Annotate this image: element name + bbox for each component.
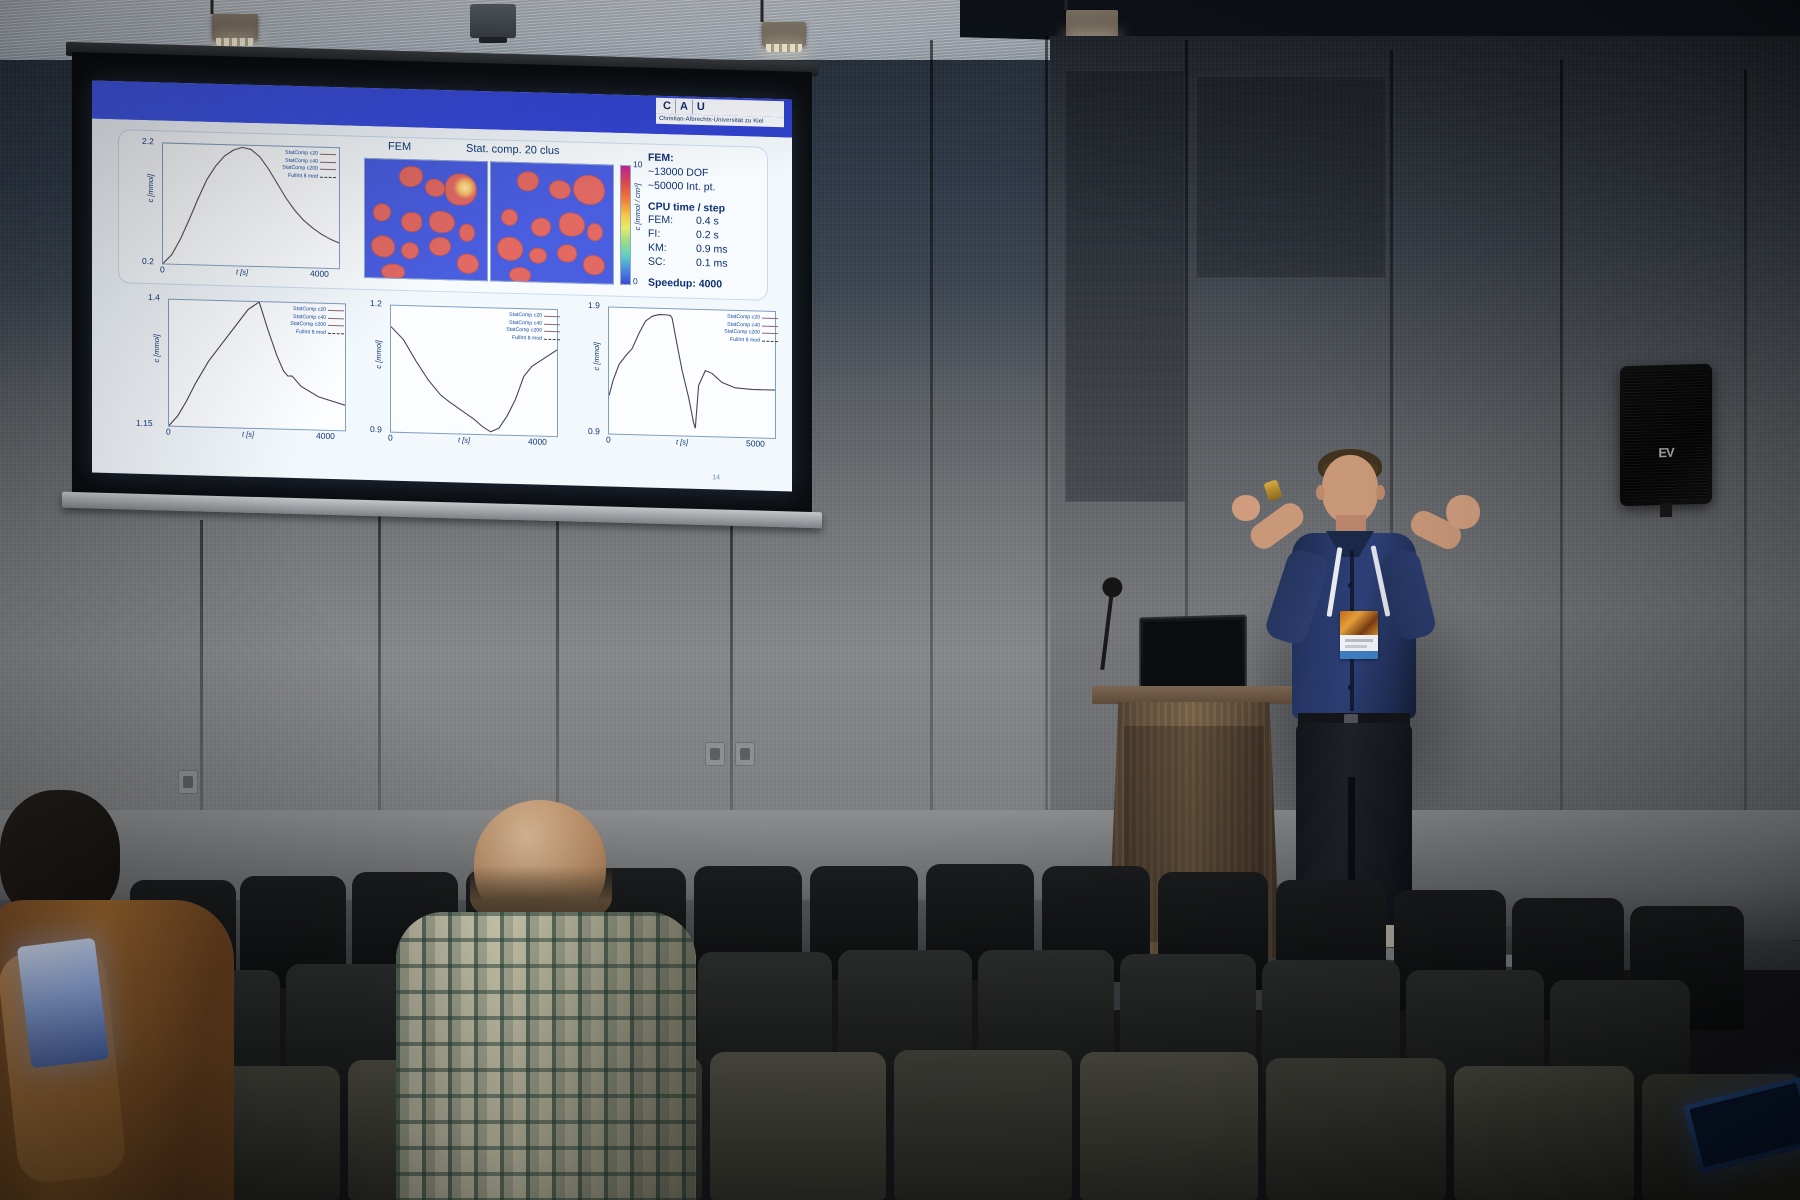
fem-field-image	[364, 158, 488, 281]
cpu-row-key: FEM:	[648, 214, 696, 229]
x-tick-min: 0	[166, 427, 171, 437]
presenter-hand-right	[1446, 495, 1480, 529]
info-block: FEM: ~13000 DOF ~50000 Int. pt. CPU time…	[648, 152, 780, 294]
presentation-slide: C A U Christian-Albrechts-Universität zu…	[92, 81, 792, 492]
y-tick-max: 1.2	[370, 298, 382, 308]
cpu-row-key: FI:	[648, 228, 696, 243]
wall-speaker: EV	[1620, 364, 1712, 507]
chart-bottom-middle: c [mmol] t [s] 1.2 0.9 0 4000 StatComp c…	[360, 300, 564, 456]
x-axis-label: t [s]	[676, 437, 688, 446]
audience-member-plaid-shirt	[396, 800, 696, 1200]
legend-label: FullInt 8 mod	[288, 172, 318, 180]
presenter-hand-left	[1232, 495, 1260, 521]
audience-member-with-phone	[0, 790, 220, 1200]
y-tick-min: 0.9	[588, 426, 600, 436]
wall-seam	[1045, 36, 1048, 836]
wall-seam	[930, 40, 933, 840]
cpu-row-value: 0.4 s	[696, 215, 719, 229]
statcomp-image-title: Stat. comp. 20 clus	[466, 143, 560, 158]
y-axis-label: c [mmol]	[146, 174, 155, 203]
y-tick-max: 1.9	[588, 300, 600, 310]
x-tick-max: 4000	[528, 436, 547, 447]
y-axis-label: c [mmol]	[374, 340, 383, 369]
presenter-laptop[interactable]	[1139, 614, 1247, 693]
x-axis-label: t [s]	[242, 430, 254, 439]
wall-niche	[1065, 70, 1185, 502]
chart-legend: StatComp c20 StatComp c40 StatComp c200 …	[506, 312, 560, 344]
wall-seam	[556, 512, 559, 820]
y-tick-min: 0.9	[370, 424, 382, 434]
colorbar-label: c [mmol / cm³]	[633, 183, 642, 230]
x-axis-label: t [s]	[458, 435, 470, 444]
presenter-head	[1322, 455, 1378, 523]
chart-bottom-right: c [mmol] t [s] 1.9 0.9 0 5000 StatComp c…	[578, 302, 782, 458]
cpu-row-value: 0.1 ms	[696, 257, 728, 272]
cau-letter-c: C	[659, 99, 676, 113]
wall-seam	[1744, 70, 1747, 830]
wall-niche	[1196, 76, 1386, 278]
wall-seam	[730, 510, 733, 820]
y-tick-max: 2.2	[142, 136, 154, 146]
x-tick-min: 0	[388, 433, 393, 443]
x-tick-max: 5000	[746, 438, 765, 449]
y-tick-min: 0.2	[142, 256, 154, 266]
y-tick-min: 1.15	[136, 418, 153, 428]
x-axis-label: t [s]	[236, 267, 248, 276]
x-tick-min: 0	[606, 434, 611, 444]
colorbar-min-label: 0	[633, 276, 638, 286]
chart-legend: StatComp c20 StatComp c40 StatComp c200 …	[724, 314, 778, 346]
y-tick-max: 1.4	[148, 292, 160, 302]
ev-logo: EV	[1658, 445, 1673, 460]
wall-seam	[378, 515, 381, 820]
chart-legend: StatComp c20 StatComp c40 StatComp c200 …	[290, 306, 344, 338]
statcomp-field-image	[490, 161, 614, 284]
ceiling-projector	[470, 4, 516, 38]
wall-outlet[interactable]	[705, 742, 725, 766]
seat[interactable]	[1080, 1052, 1258, 1200]
x-tick-max: 4000	[310, 268, 329, 279]
seat[interactable]	[894, 1050, 1072, 1200]
projection-screen: C A U Christian-Albrechts-Universität zu…	[72, 52, 812, 520]
legend-label: FullInt 8 mod	[296, 329, 326, 337]
wall-seam	[1560, 60, 1563, 830]
cpu-row-key: SC:	[648, 256, 696, 271]
legend-label: FullInt 8 mod	[512, 334, 542, 342]
phone-screen[interactable]	[17, 938, 109, 1069]
y-axis-label: c [mmol]	[592, 342, 601, 371]
legend-label: FullInt 8 mod	[730, 336, 760, 344]
seat[interactable]	[710, 1052, 886, 1200]
x-tick-min: 0	[160, 264, 165, 274]
x-tick-max: 4000	[316, 431, 335, 442]
fem-image-title: FEM	[388, 141, 411, 154]
chart-legend: StatComp c20 StatComp c40 StatComp c200 …	[282, 150, 336, 182]
lecture-hall-photo: EV C A U Christian-Albrechts-Universität…	[0, 0, 1800, 1200]
chart-top-left: c [mmol] t [s] 2.2 0.2 0 4000 StatComp c…	[132, 138, 342, 284]
conference-badge	[1340, 611, 1378, 659]
cau-letter-a: A	[676, 99, 693, 113]
colorbar	[620, 165, 631, 285]
y-axis-label: c [mmol]	[152, 334, 161, 363]
wall-outlet[interactable]	[735, 742, 755, 766]
cau-letter-u: U	[693, 100, 709, 114]
cpu-row-key: KM:	[648, 242, 696, 257]
cau-logo: C A U Christian-Albrechts-Universität zu…	[656, 98, 784, 127]
chart-bottom-left: c [mmol] t [s] 1.4 1.15 0 4000 StatComp …	[132, 294, 348, 450]
cpu-row-value: 0.2 s	[696, 229, 719, 243]
slide-page-number: 14	[712, 474, 720, 481]
cpu-row-value: 0.9 ms	[696, 243, 728, 258]
seat[interactable]	[1266, 1058, 1446, 1200]
wall-seam	[200, 520, 203, 820]
colorbar-max-label: 10	[633, 159, 642, 169]
seat[interactable]	[1454, 1066, 1634, 1200]
